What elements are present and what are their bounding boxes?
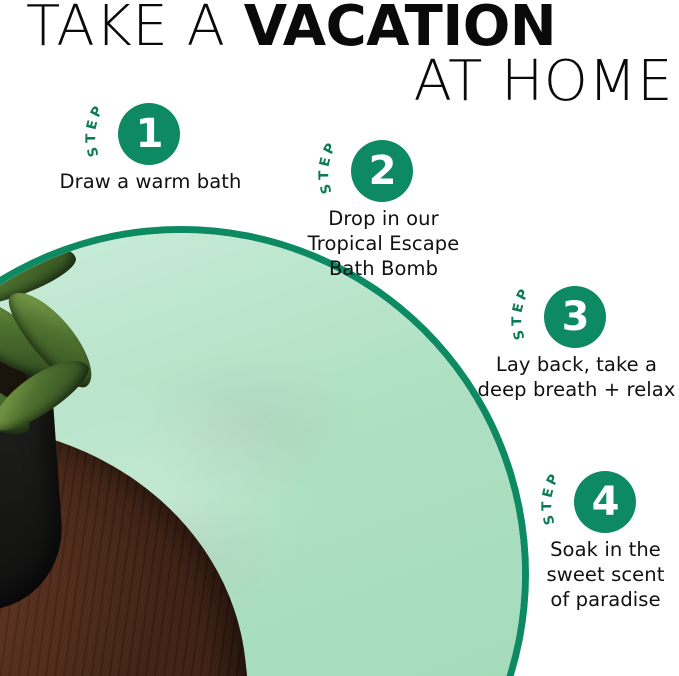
headline-take-a: TAKE A	[26, 0, 244, 59]
headline-vacation: VACATION	[244, 0, 556, 59]
vacation-at-home-infographic: TAKE A VACATION AT HOME STEP 1 Draw a wa…	[0, 0, 679, 676]
step-3-caption: Lay back, take a deep breath + relax	[455, 352, 679, 402]
step-1-circle: 1	[118, 103, 180, 165]
step-4-step-word: STEP	[539, 469, 564, 527]
step-4-number: 4	[592, 482, 619, 522]
step-2-circle: 2	[351, 140, 413, 202]
plant-foliage	[0, 233, 154, 513]
bath-scene-photo	[0, 233, 522, 676]
step-4-circle: 4	[574, 471, 636, 533]
headline-at-home: AT HOME	[414, 52, 673, 112]
step-2-step-word: STEP	[316, 138, 341, 196]
step-3-circle: 3	[544, 286, 606, 348]
step-3-number: 3	[562, 297, 589, 337]
photo-inner	[0, 233, 522, 676]
step-2-number: 2	[369, 151, 396, 191]
step-4-caption: Soak in the sweet scent of paradise	[484, 537, 679, 612]
step-1-number: 1	[136, 114, 163, 154]
headline-line-1: TAKE A VACATION	[26, 0, 556, 57]
step-1-caption: Draw a warm bath	[29, 169, 272, 194]
step-1-step-word: STEP	[83, 101, 108, 159]
step-2-caption: Drop in our Tropical Escape Bath Bomb	[262, 206, 505, 281]
